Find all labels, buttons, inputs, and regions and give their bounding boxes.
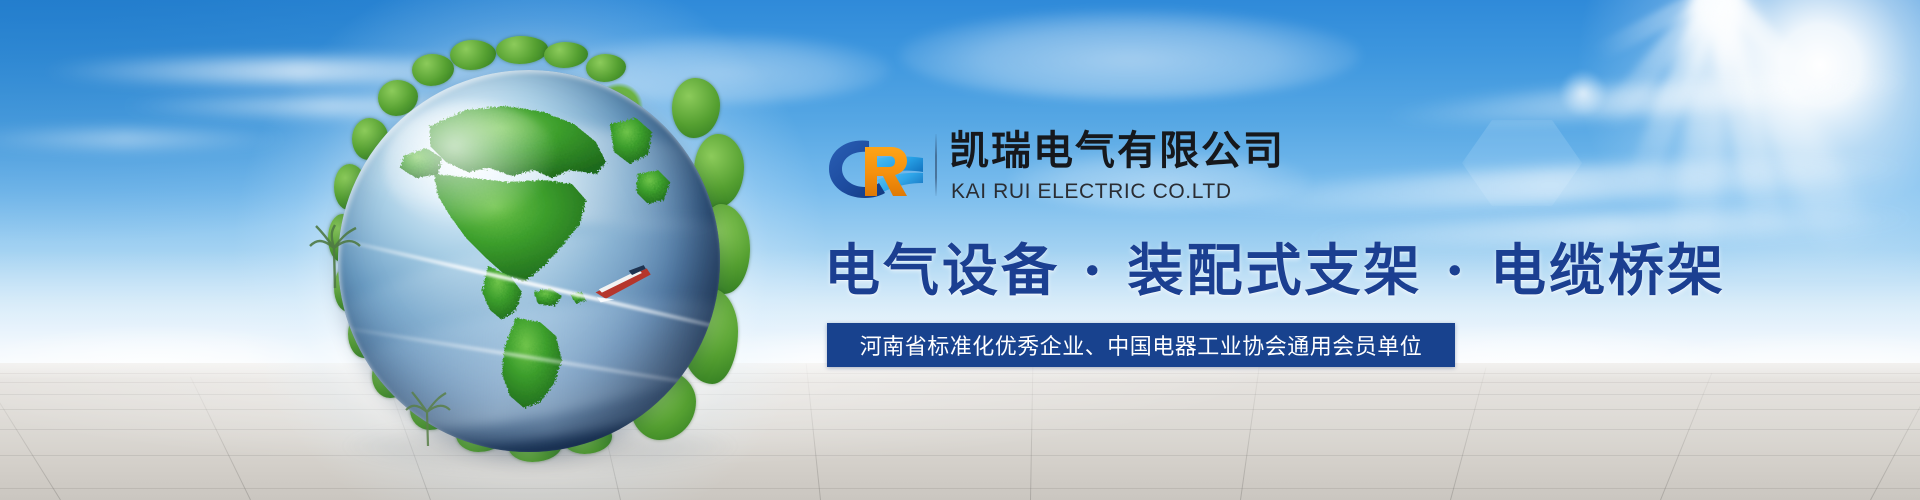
- kairui-cr-logo-icon: [825, 128, 925, 204]
- company-hero-banner: 凯瑞电气有限公司 KAI RUI ELECTRIC CO.LTD 电气设备 · …: [0, 0, 1920, 500]
- company-logo-block[interactable]: 凯瑞电气有限公司 KAI RUI ELECTRIC CO.LTD: [825, 126, 1245, 210]
- globe-rim-light: [338, 70, 720, 452]
- green-earth-globe: [300, 38, 760, 490]
- logo-divider: [935, 134, 937, 196]
- company-name-cn: 凯瑞电气有限公司: [949, 124, 1285, 178]
- palm-tree: [404, 390, 452, 448]
- banner-slogan: 电气设备 · 装配式支架 · 电缆桥架: [824, 226, 1726, 307]
- cloud: [900, 10, 1360, 100]
- globe-sphere: [338, 70, 720, 452]
- company-name-en: KAI RUI ELECTRIC CO.LTD: [951, 180, 1232, 204]
- honor-badge-bar: 河南省标准化优秀企业、中国电器工业协会通用会员单位: [827, 323, 1455, 367]
- palm-tree: [308, 224, 362, 290]
- honor-badge-text: 河南省标准化优秀企业、中国电器工业协会通用会员单位: [860, 329, 1423, 361]
